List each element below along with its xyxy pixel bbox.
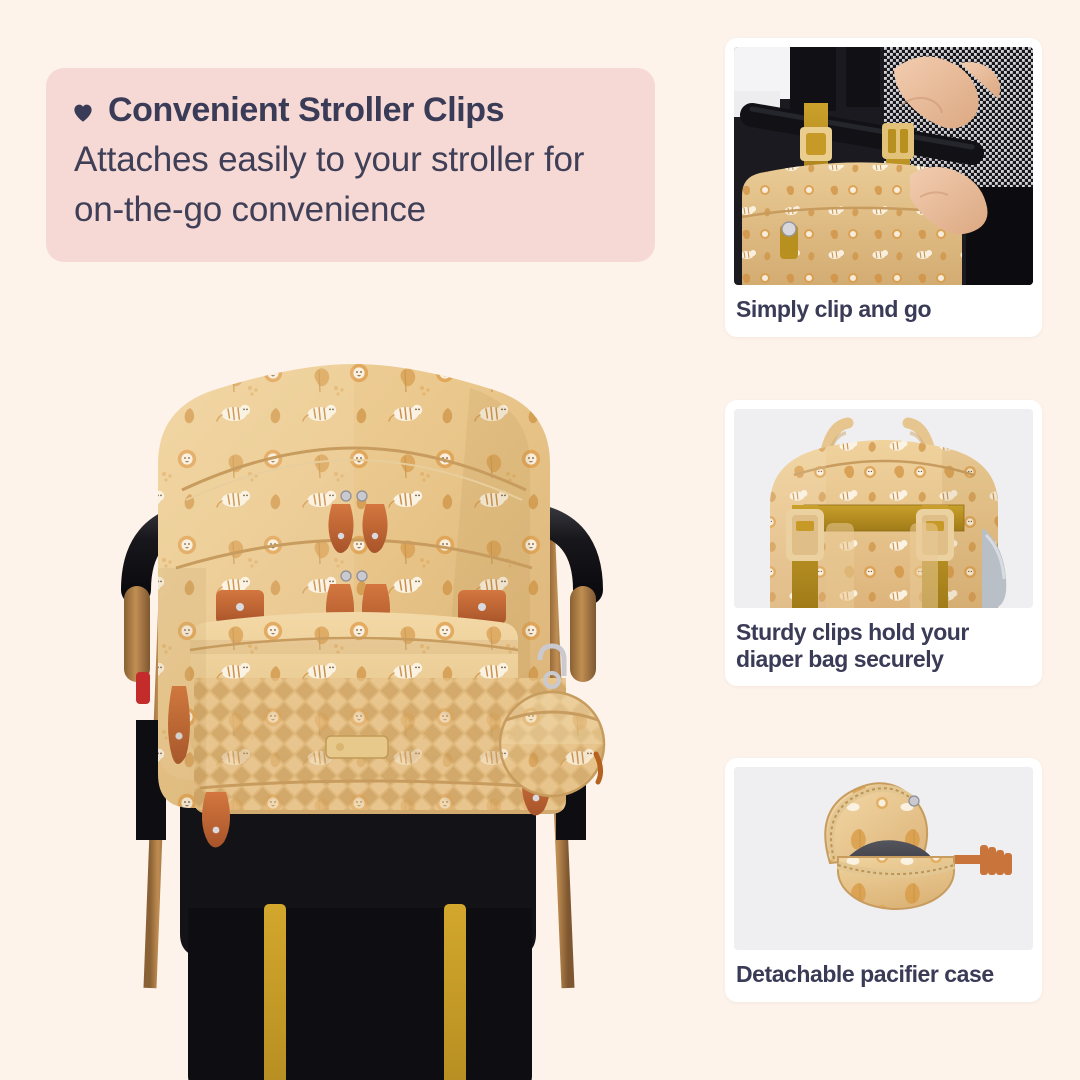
feature-cards-column: Simply clip and go [725, 0, 1055, 1080]
feature-card-simply-clip-and-go[interactable]: Simply clip and go [725, 38, 1042, 337]
headline-title: Convenient Stroller Clips [108, 92, 504, 129]
card-caption: Detachable pacifier case [734, 950, 1033, 1002]
hero-product-photo [40, 268, 680, 1080]
card-caption: Simply clip and go [734, 285, 1033, 337]
heart-icon [72, 102, 94, 124]
headline-subtitle: Attaches easily to your stroller for on-… [74, 135, 625, 234]
feature-card-sturdy-clips[interactable]: Sturdy clips hold your diaper bag secure… [725, 400, 1042, 686]
feature-card-pacifier-case[interactable]: Detachable pacifier case [725, 758, 1042, 1002]
headline-row: Convenient Stroller Clips [72, 92, 625, 129]
left-column: Convenient Stroller Clips Attaches easil… [0, 0, 700, 1080]
card-photo-sturdy-clips [734, 409, 1033, 608]
card-caption: Sturdy clips hold your diaper bag secure… [734, 608, 1033, 686]
card-photo-pacifier-case [734, 767, 1033, 950]
card-photo-simply-clip-and-go [734, 47, 1033, 285]
headline-panel: Convenient Stroller Clips Attaches easil… [46, 68, 655, 262]
